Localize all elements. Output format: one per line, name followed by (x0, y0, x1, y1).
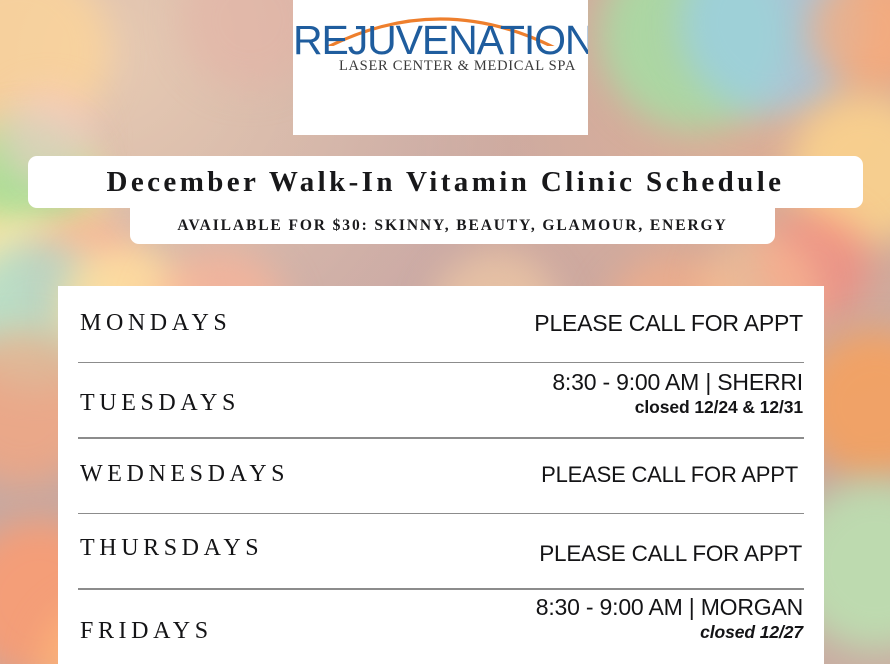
schedule-detail-main: 8:30 - 9:00 AM | SHERRI (552, 369, 803, 396)
schedule-card: MONDAYS PLEASE CALL FOR APPT TUESDAYS 8:… (58, 286, 824, 664)
schedule-detail: PLEASE CALL FOR APPT (538, 538, 804, 564)
schedule-row: MONDAYS PLEASE CALL FOR APPT (78, 286, 804, 362)
logo-tagline: LASER CENTER & MEDICAL SPA (293, 58, 588, 75)
page-subtitle: AVAILABLE FOR $30: SKINNY, BEAUTY, GLAMO… (177, 217, 727, 235)
subtitle-banner: AVAILABLE FOR $30: SKINNY, BEAUTY, GLAMO… (130, 208, 775, 244)
schedule-detail-main: PLEASE CALL FOR APPT (539, 541, 802, 567)
schedule-detail-note: closed 12/24 & 12/31 (552, 397, 803, 418)
schedule-row: WEDNESDAYS PLEASE CALL FOR APPT (78, 437, 804, 513)
schedule-list: MONDAYS PLEASE CALL FOR APPT TUESDAYS 8:… (78, 286, 804, 664)
schedule-detail-main: PLEASE CALL FOR APPT (541, 462, 798, 488)
poster-canvas: REJUVENATIONS LASER CENTER & MEDICAL SPA… (0, 0, 890, 664)
schedule-detail-note: closed 12/27 (536, 622, 803, 643)
schedule-day-label: MONDAYS (78, 310, 231, 337)
schedule-detail: PLEASE CALL FOR APPT (534, 310, 806, 337)
schedule-row: TUESDAYS 8:30 - 9:00 AM | SHERRI closed … (78, 362, 804, 438)
title-banner: December Walk-In Vitamin Clinic Schedule (28, 156, 863, 208)
schedule-detail: PLEASE CALL FOR APPT (544, 462, 804, 488)
schedule-detail-main: PLEASE CALL FOR APPT (534, 310, 803, 337)
schedule-detail: 8:30 - 9:00 AM | SHERRI closed 12/24 & 1… (552, 369, 806, 418)
brand-logo-card: REJUVENATIONS LASER CENTER & MEDICAL SPA (293, 0, 588, 135)
schedule-day-label: WEDNESDAYS (78, 461, 289, 488)
schedule-day-label: FRIDAYS (78, 618, 213, 645)
schedule-day-label: THURSDAYS (78, 535, 263, 562)
schedule-detail: 8:30 - 9:00 AM | MORGAN closed 12/27 (536, 594, 806, 643)
schedule-day-label: TUESDAYS (78, 390, 240, 417)
schedule-row: THURSDAYS PLEASE CALL FOR APPT (78, 513, 804, 589)
logo-wordmark: REJUVENATIONS (293, 20, 588, 61)
schedule-detail-main: 8:30 - 9:00 AM | MORGAN (536, 594, 803, 621)
page-title: December Walk-In Vitamin Clinic Schedule (107, 166, 785, 199)
schedule-row: FRIDAYS 8:30 - 9:00 AM | MORGAN closed 1… (78, 588, 804, 664)
